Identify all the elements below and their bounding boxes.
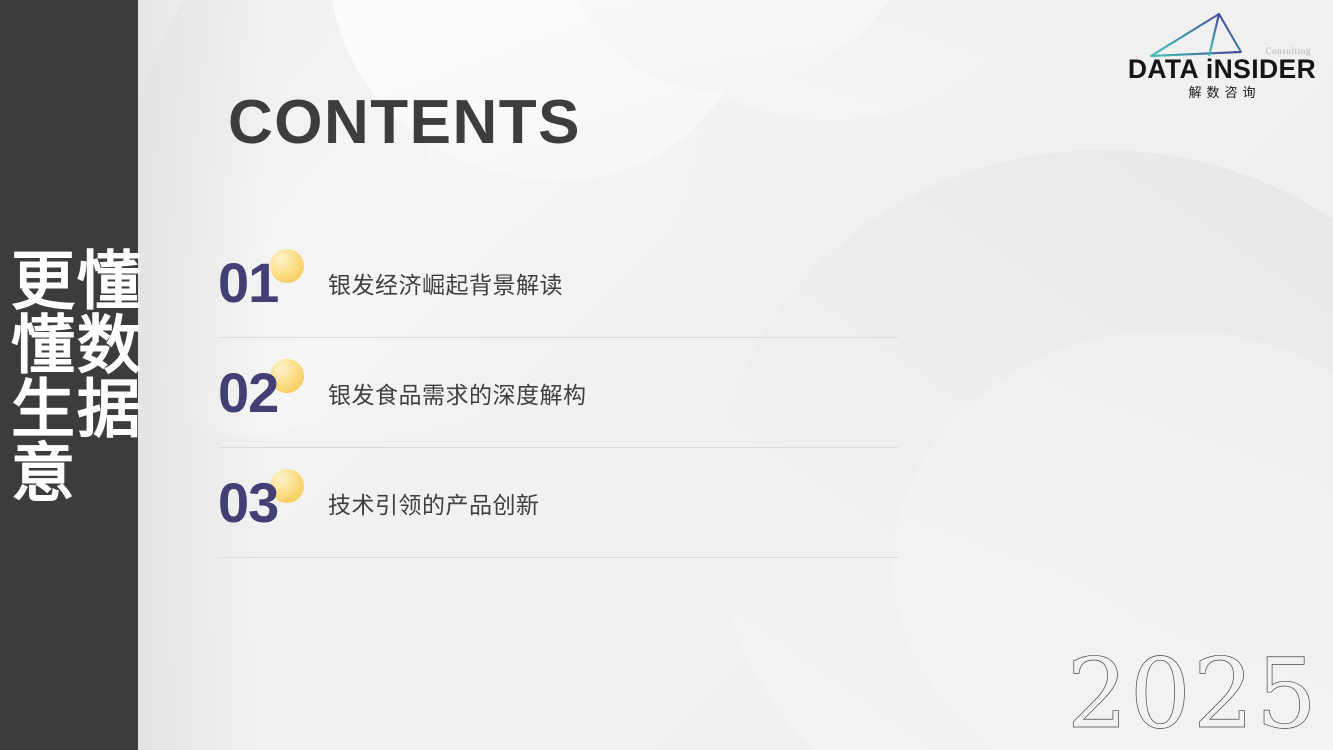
- contents-item-02[interactable]: 02 银发食品需求的深度解构: [218, 338, 898, 448]
- page-title: CONTENTS: [228, 92, 581, 154]
- contents-item-number: 03: [218, 475, 278, 531]
- side-band-slogan: 懂数据 更懂生意: [3, 247, 135, 503]
- contents-slide: 懂数据 更懂生意 Consulting DATA iNSIDER 解数咨询 CO…: [0, 0, 1333, 750]
- data-insider-ribbon-mark-icon: [1149, 12, 1245, 58]
- year-watermark: 2025: [1067, 646, 1319, 742]
- brand-logo: Consulting DATA iNSIDER 解数咨询: [1127, 12, 1317, 94]
- contents-number-wrap-03: 03: [218, 467, 314, 539]
- contents-number-wrap-02: 02: [218, 357, 314, 429]
- contents-number-wrap-01: 01: [218, 247, 314, 319]
- logo-subtitle-cn: 解数咨询: [1127, 82, 1317, 101]
- logo-wordmark: DATA iNSIDER: [1127, 56, 1317, 83]
- contents-item-label: 技术引领的产品创新: [328, 486, 540, 520]
- contents-item-number: 02: [218, 365, 278, 421]
- contents-list: 01 银发经济崛起背景解读 02 银发食品需求的深度解构 03 技术引领的产品创…: [218, 228, 898, 558]
- contents-item-label: 银发食品需求的深度解构: [328, 376, 587, 410]
- side-band: 懂数据 更懂生意: [0, 0, 138, 750]
- contents-item-03[interactable]: 03 技术引领的产品创新: [218, 448, 898, 558]
- contents-item-number: 01: [218, 255, 278, 311]
- contents-item-label: 银发经济崛起背景解读: [328, 266, 563, 300]
- contents-item-01[interactable]: 01 银发经济崛起背景解读: [218, 228, 898, 338]
